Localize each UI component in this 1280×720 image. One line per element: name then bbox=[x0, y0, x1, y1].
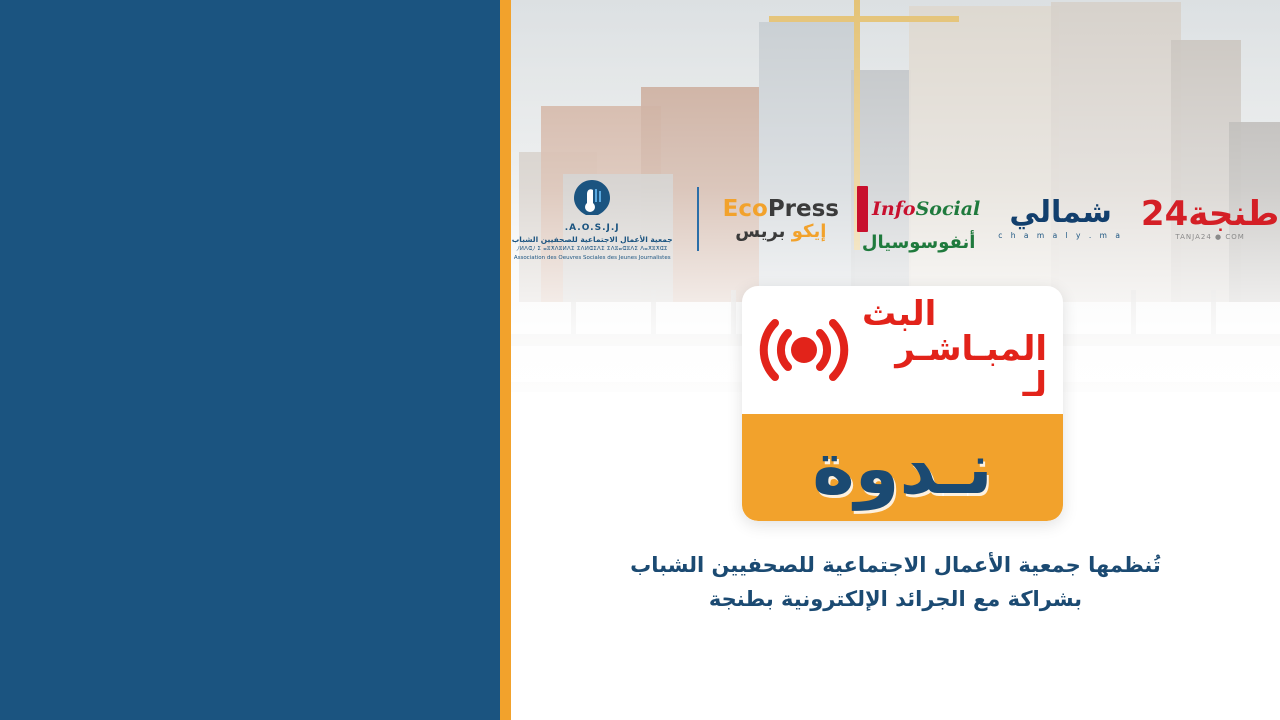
live-broadcast-icon bbox=[758, 313, 850, 387]
logo-chamaly[interactable]: شمالي c h a m a l y . m a bbox=[998, 198, 1123, 240]
event-word: نـدوة bbox=[812, 432, 993, 504]
aosjj-emblem-icon bbox=[571, 178, 613, 220]
logo-tanja24-arabic: طنجة24 bbox=[1141, 197, 1279, 231]
logo-aosjj[interactable]: A.O.S.J.J. جمعية الأعمال الاجتماعية للصح… bbox=[512, 178, 673, 261]
logo-infosocial[interactable]: InfoSocial أنفوسوسيال bbox=[857, 186, 980, 252]
logo-aosjj-arabic: جمعية الأعمال الاجتماعية للصحفيين الشباب bbox=[512, 235, 673, 244]
logo-chamaly-arabic: شمالي bbox=[1009, 198, 1112, 228]
logo-aosjj-french: Association des Oeuvres Sociales des Jeu… bbox=[514, 255, 671, 261]
logo-infosocial-arabic: أنفوسوسيال bbox=[862, 234, 976, 252]
logo-infosocial-english: InfoSocial bbox=[872, 200, 980, 219]
logo-chamaly-subtitle: c h a m a l y . m a bbox=[998, 232, 1123, 240]
logo-ecopress[interactable]: EcoPress إيكو بريس bbox=[723, 198, 839, 241]
live-broadcast-card[interactable]: البث المبـاشـر لـ نـدوة bbox=[742, 286, 1063, 521]
logo-tanja24-subtitle: TANJA24 ● COM bbox=[1175, 234, 1244, 241]
organizer-text: تُنظمها جمعية الأعمال الاجتماعية للصحفيي… bbox=[511, 548, 1280, 616]
partner-logo-strip: طنجة24 TANJA24 ● COM شمالي c h a m a l y… bbox=[511, 176, 1280, 262]
logo-separator bbox=[697, 187, 699, 251]
live-line-2: المبـاشـر لـ bbox=[862, 332, 1047, 403]
live-broadcast-header: البث المبـاشـر لـ bbox=[742, 286, 1063, 414]
right-panel: طنجة24 TANJA24 ● COM شمالي c h a m a l y… bbox=[511, 0, 1280, 720]
logo-infosocial-bar-icon bbox=[857, 186, 868, 232]
organizer-line-2: بشراكة مع الجرائد الإلكترونية بطنجة bbox=[511, 582, 1280, 616]
live-line-1: البث bbox=[862, 297, 936, 332]
orange-accent-strip bbox=[500, 0, 511, 720]
left-panel bbox=[0, 0, 500, 720]
event-word-band: نـدوة bbox=[742, 414, 1063, 521]
logo-infosocial-row: InfoSocial bbox=[857, 186, 980, 232]
logo-aosjj-tifinagh: ⵰ⵍⴷⵛ⵰ ⵉ ⴰⵓⵅⴷⵓⵍⴷⵉ ⵉⴷⵍⵛⵉⴷⵉ ⵉⴷⵓⴰⵛⵓⴷⵉ ⴷⴰⵅⵓⵅⵛ… bbox=[517, 246, 668, 253]
poster-root: طنجة24 TANJA24 ● COM شمالي c h a m a l y… bbox=[0, 0, 1280, 720]
live-broadcast-text: البث المبـاشـر لـ bbox=[862, 297, 1047, 403]
logo-tanja24[interactable]: طنجة24 TANJA24 ● COM bbox=[1141, 197, 1279, 241]
logo-ecopress-english: EcoPress bbox=[723, 198, 839, 221]
logo-aosjj-abbr: A.O.S.J.J. bbox=[565, 223, 620, 233]
logo-ecopress-arabic: إيكو بريس bbox=[735, 223, 826, 241]
organizer-line-1: تُنظمها جمعية الأعمال الاجتماعية للصحفيي… bbox=[511, 548, 1280, 582]
